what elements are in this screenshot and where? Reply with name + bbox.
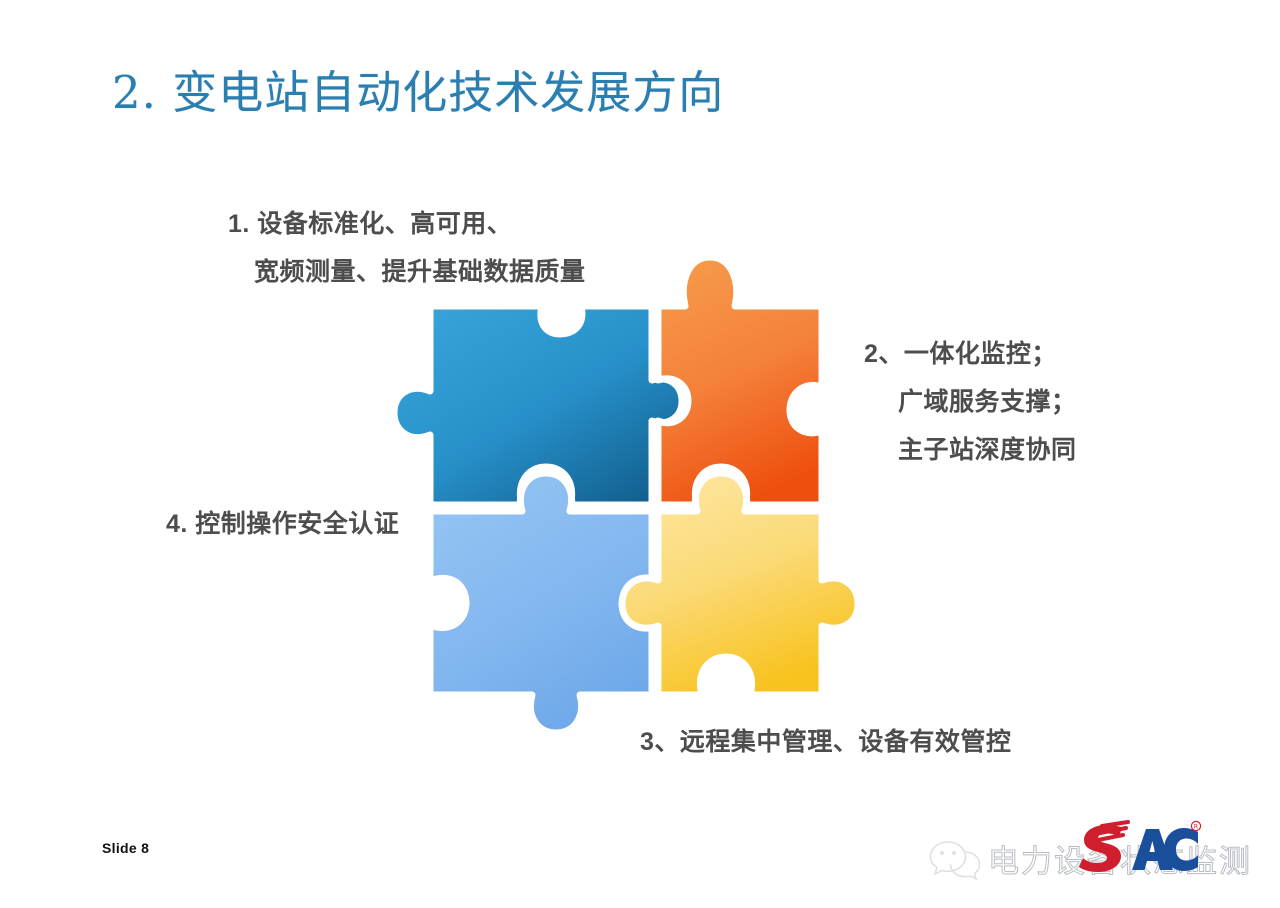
callout-line: 1. 设备标准化、高可用、 [228,200,586,248]
sac-logo: R [1076,820,1204,876]
slide-number: Slide 8 [102,840,149,856]
puzzle-piece-top-right [658,257,822,505]
slide-canvas: 2. 变电站自动化技术发展方向 [0,0,1280,908]
page-title: 2. 变电站自动化技术发展方向 [112,56,724,121]
callout-line: 3、远程集中管理、设备有效管控 [640,718,1011,766]
callout-line: 2、一体化监控； [864,330,1077,378]
callout-line: 广域服务支撑； [864,378,1077,426]
callout-top-left: 1. 设备标准化、高可用、 宽频测量、提升基础数据质量 [228,200,586,296]
callout-left: 4. 控制操作安全认证 [166,500,399,548]
callout-line: 宽频测量、提升基础数据质量 [228,248,586,296]
callout-line: 主子站深度协同 [864,426,1077,474]
wechat-icon [928,838,980,880]
callout-bottom: 3、远程集中管理、设备有效管控 [640,718,1011,766]
footer-watermark: 电力设备状态监测 R [928,826,1268,894]
callout-line: 4. 控制操作安全认证 [166,500,399,548]
registered-mark: R [1191,821,1200,830]
svg-text:R: R [1194,824,1198,831]
callout-right: 2、一体化监控； 广域服务支撑； 主子站深度协同 [864,330,1077,474]
